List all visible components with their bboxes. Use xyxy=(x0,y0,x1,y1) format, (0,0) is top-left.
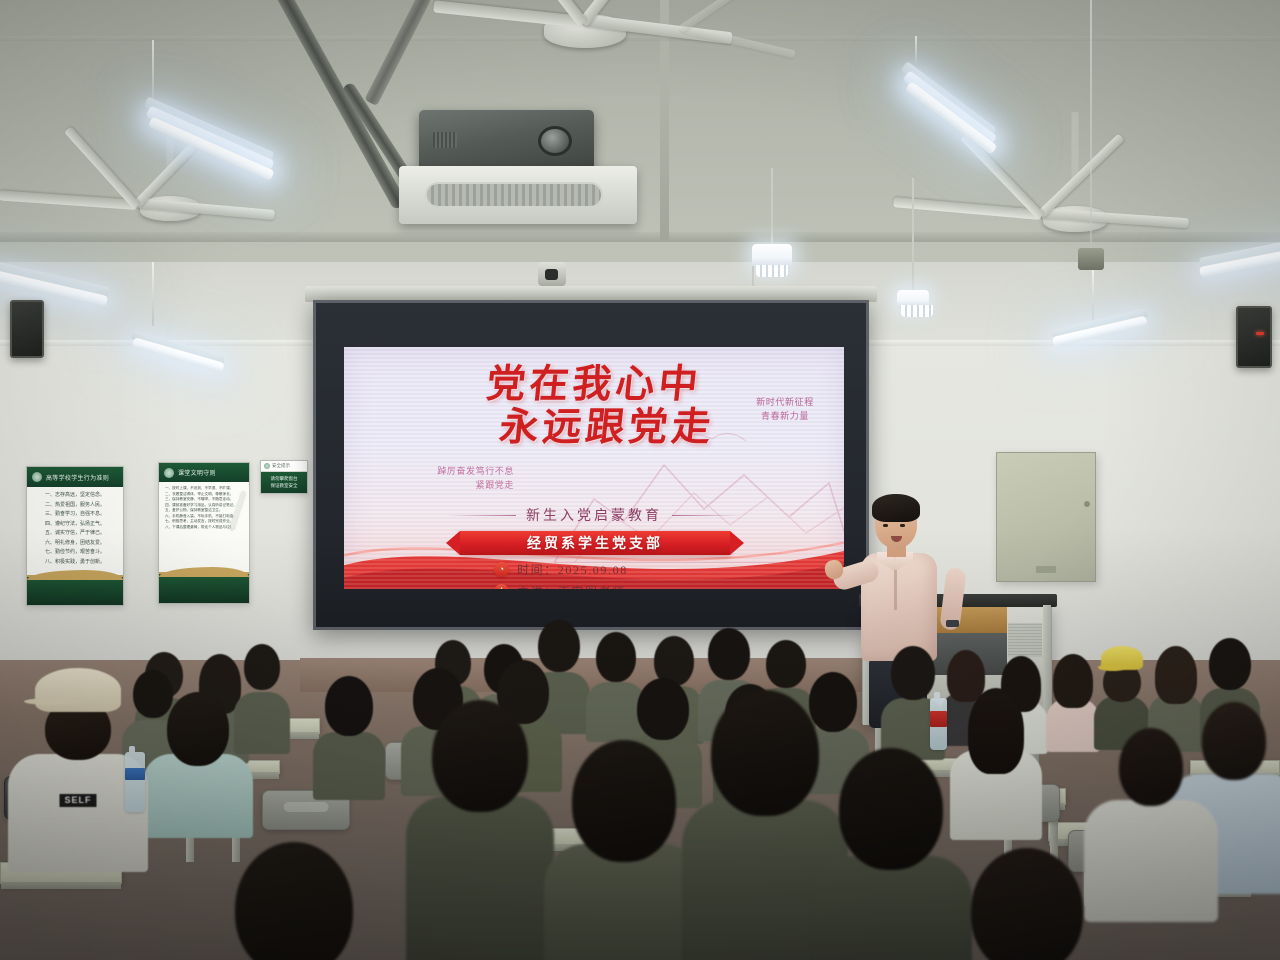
slide-meta-list: ◔ 时间：2025.09.08 ♟ 主讲：王宏图老师 xyxy=(494,561,628,589)
ceiling-wire xyxy=(1090,0,1092,260)
ceiling-fan-far xyxy=(640,8,790,58)
slide-title-line-2: 永远跟党走 xyxy=(418,408,796,449)
speaker-status-led xyxy=(1256,332,1264,335)
wristwatch xyxy=(946,620,959,627)
audience-person xyxy=(316,676,382,798)
school-emblem-icon xyxy=(264,463,270,469)
slide-title-line-1: 党在我心中 xyxy=(392,365,796,406)
slide-side-left-line-2: 紧跟党走 xyxy=(406,479,514,493)
ac-grille xyxy=(425,182,603,208)
poster-rule-line: 七、勤俭节约，艰苦奋斗。 xyxy=(27,548,123,558)
classroom-scene: 高等学校学生行为准则 一、志存高远，坚定信念。 二、热爱祖国，服务人民。 三、勤… xyxy=(0,0,1280,960)
slide-title-block: 党在我心中 永远跟党走 xyxy=(394,365,794,449)
audience-person-foreground xyxy=(224,842,364,960)
slide-side-left-line-1: 踔厉奋发笃行不怠 xyxy=(406,465,514,479)
blackboard-frame: 踔厉奋发笃行不怠 紧跟党走 新时代新征程 青春新力量 党在我心中 永远跟党走 新… xyxy=(313,300,869,630)
student-with-cream-cap: SELF xyxy=(20,668,136,868)
cap-icon xyxy=(35,668,121,712)
projection-screen: 踔厉奋发笃行不怠 紧跟党走 新时代新征程 青春新力量 党在我心中 永远跟党走 新… xyxy=(344,347,844,589)
student-in-white-hoodie xyxy=(956,688,1036,838)
poster-rule-line: 三、勤奋学习，自强不息。 xyxy=(27,510,123,520)
lecturer-hair xyxy=(872,494,920,522)
slide-ribbon-text: 经贸系学生党支部 xyxy=(527,533,663,553)
jacket-text-badge: SELF xyxy=(59,794,96,807)
safety-sign-line-1: 请勿攀爬窗台 xyxy=(261,475,307,483)
safety-sign: 安全提示 请勿攀爬窗台 保证教室安全 xyxy=(260,460,308,494)
slide-meta-time: 时间：2025.09.08 xyxy=(517,561,628,578)
safety-sign-header: 安全提示 xyxy=(261,461,307,472)
poster-rule-line: 四、遵纪守法，弘扬正气。 xyxy=(27,520,123,530)
water-bottle-blue[interactable] xyxy=(125,752,145,812)
safety-sign-title: 安全提示 xyxy=(272,463,290,469)
student-in-mint-shirt xyxy=(150,692,246,832)
wall-speaker-left xyxy=(10,300,44,358)
poster-rule-line: 五、诚实守信，严于律己。 xyxy=(27,529,123,539)
poster-student-code: 高等学校学生行为准则 一、志存高远，坚定信念。 二、热爱祖国，服务人民。 三、勤… xyxy=(26,466,124,606)
poster-classroom-rules: 课堂文明守则 一、按时上课，不迟到、不早退、不旷课。 二、衣着整洁得体，举止文明… xyxy=(158,462,250,604)
school-emblem-icon xyxy=(32,472,42,482)
clock-icon: ◔ xyxy=(494,562,509,577)
person-icon: ♟ xyxy=(494,584,509,589)
ceiling-hook-bracket xyxy=(1078,248,1104,270)
ceiling-fan-left xyxy=(75,170,265,240)
subtitle-rule-left xyxy=(446,515,516,516)
slide-ribbon-banner: 经贸系学生党支部 xyxy=(460,531,730,555)
recording-camera xyxy=(538,262,566,286)
water-bottle-red[interactable] xyxy=(930,698,947,750)
audience-person xyxy=(1096,728,1206,918)
cabinet-label-plate xyxy=(1036,566,1056,573)
slide-subtitle: 新生入党启蒙教育 xyxy=(526,505,662,525)
projector-vent xyxy=(433,132,457,148)
cap-brim xyxy=(24,698,82,705)
poster-body: 一、按时上课，不迟到、不早退、不旷课。 二、衣着整洁得体，举止文明，尊敬师长。 … xyxy=(159,486,249,576)
audience-person xyxy=(1048,652,1098,750)
poster-title: 课堂文明守则 xyxy=(178,468,216,477)
poster-rule-line: 六、明礼修身，团结友爱。 xyxy=(27,539,123,549)
audience-person-foreground xyxy=(828,748,954,960)
ceiling-projector xyxy=(419,110,594,172)
safety-sign-body: 请勿攀爬窗台 保证教室安全 xyxy=(261,472,307,493)
audience-person-foreground xyxy=(962,848,1092,960)
projector-lens xyxy=(538,126,572,156)
pendant-lamp-right xyxy=(893,286,933,340)
slide-meta-speaker: 主讲：王宏图老师 xyxy=(517,583,626,589)
poster-header: 课堂文明守则 xyxy=(159,463,249,482)
poster-rule-line: 八、下课后整理桌椅，带走个人物品与垃圾。 xyxy=(159,525,249,531)
slide-subtitle-row: 新生入党启蒙教育 xyxy=(344,505,844,525)
poster-title: 高等学校学生行为准则 xyxy=(46,473,109,482)
lectern-speaker-grille-right xyxy=(1008,623,1042,657)
cabinet-knob-icon[interactable] xyxy=(1084,501,1090,507)
poster-footer-band xyxy=(159,572,249,603)
poster-rule-line: 八、积极实践，勇于创新。 xyxy=(27,558,123,568)
air-conditioner-cassette xyxy=(399,166,637,224)
slide-meta-row-speaker: ♟ 主讲：王宏图老师 xyxy=(494,583,628,589)
audience-person-foreground xyxy=(560,740,688,960)
poster-rule-line: 二、热爱祖国，服务人民。 xyxy=(27,501,123,511)
wall-speaker-right xyxy=(1236,306,1272,368)
audience-person-foreground xyxy=(420,700,540,960)
poster-header: 高等学校学生行为准则 xyxy=(27,467,123,487)
poster-body: 一、志存高远，坚定信念。 二、热爱祖国，服务人民。 三、勤奋学习，自强不息。 四… xyxy=(27,491,123,575)
ceiling-fan-right xyxy=(975,178,1175,250)
school-emblem-icon xyxy=(164,468,174,478)
poster-footer-band xyxy=(27,575,123,605)
lecturer-eye-right xyxy=(900,524,905,527)
slide-meta-row-time: ◔ 时间：2025.09.08 xyxy=(494,561,628,578)
lecturer-eye-left xyxy=(883,524,888,527)
lecturer-shirt-placket xyxy=(894,570,897,610)
poster-rule-line: 一、志存高远，坚定信念。 xyxy=(27,491,123,501)
slide-side-text-left: 踔厉奋发笃行不怠 紧跟党走 xyxy=(406,465,514,493)
safety-sign-line-2: 保证教室安全 xyxy=(261,482,307,490)
subtitle-rule-right xyxy=(672,515,742,516)
electrical-cabinet[interactable] xyxy=(996,452,1096,582)
